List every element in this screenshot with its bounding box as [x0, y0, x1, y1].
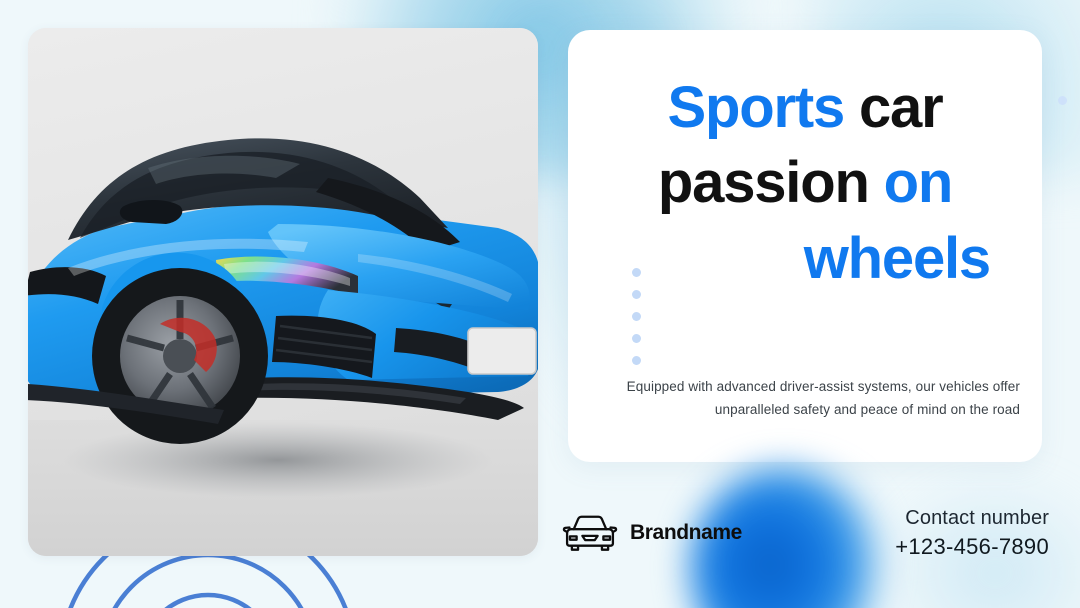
- headline-plain-car: car: [859, 75, 943, 140]
- headline-accent-sports: Sports: [668, 75, 845, 140]
- contact-number[interactable]: +123-456-7890: [895, 532, 1049, 562]
- page-title: Sports car passion on wheels: [594, 70, 1016, 296]
- contact-block: Contact number +123-456-7890: [895, 505, 1049, 562]
- decorative-dot: [632, 268, 641, 277]
- brand-name: Brandname: [630, 521, 742, 545]
- contact-label: Contact number: [895, 505, 1049, 532]
- decorative-dot: [632, 290, 641, 299]
- headline-line-3: wheels: [594, 221, 1016, 296]
- car-front-icon: [562, 512, 618, 554]
- body-paragraph: Equipped with advanced driver-assist sys…: [608, 375, 1020, 421]
- headline-accent-wheels: wheels: [804, 226, 990, 291]
- headline-line-2: passion on: [594, 145, 1016, 220]
- poster-canvas: Sports car passion on wheels Equipped wi…: [0, 0, 1080, 608]
- decorative-dot: [632, 334, 641, 343]
- right-edge-dot: [1058, 96, 1067, 105]
- headline-accent-on: on: [884, 150, 952, 215]
- hero-car-image: [28, 28, 538, 556]
- decorative-dot: [632, 312, 641, 321]
- headline-line-1: Sports car: [594, 70, 1016, 145]
- headline-card: Sports car passion on wheels Equipped wi…: [568, 30, 1042, 462]
- decorative-dot: [632, 356, 641, 365]
- headline-plain-passion: passion: [658, 150, 869, 215]
- brand-lockup[interactable]: Brandname: [562, 512, 742, 554]
- dot-column-decoration: [632, 268, 641, 365]
